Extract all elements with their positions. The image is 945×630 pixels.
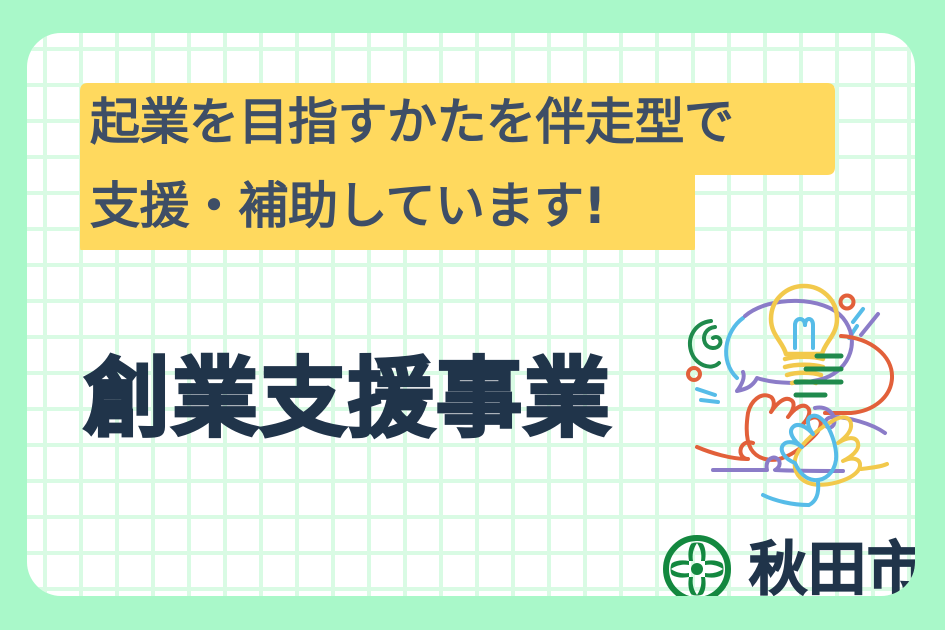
headline-block: 起業を目指すかたを伴走型で 支援・補助しています! [52, 50, 852, 250]
city-logo: 秋田市 [661, 533, 915, 596]
orange-dot-left [688, 368, 700, 380]
poster-canvas: 起業を目指すかたを伴走型で 支援・補助しています! 創業支援事業 [0, 0, 945, 630]
page-title: 創業支援事業 [84, 356, 612, 442]
headline-line-1: 起業を目指すかたを伴走型で [90, 97, 734, 147]
blue-bubble-arc [726, 318, 743, 378]
blue-sparkle-left [697, 389, 718, 402]
orange-dot-top [841, 296, 854, 309]
green-spiral-icon [690, 321, 720, 367]
collaboration-hands-idea-illustration [675, 283, 915, 508]
city-name-label: 秋田市 [749, 540, 915, 596]
purple-sparkle-right [861, 314, 878, 335]
headline-line-2: 支援・補助しています! [90, 181, 606, 231]
white-content-card: 起業を目指すかたを伴走型で 支援・補助しています! 創業支援事業 [27, 33, 915, 596]
akita-city-emblem [661, 533, 733, 596]
blue-sparkle-right [853, 309, 863, 322]
